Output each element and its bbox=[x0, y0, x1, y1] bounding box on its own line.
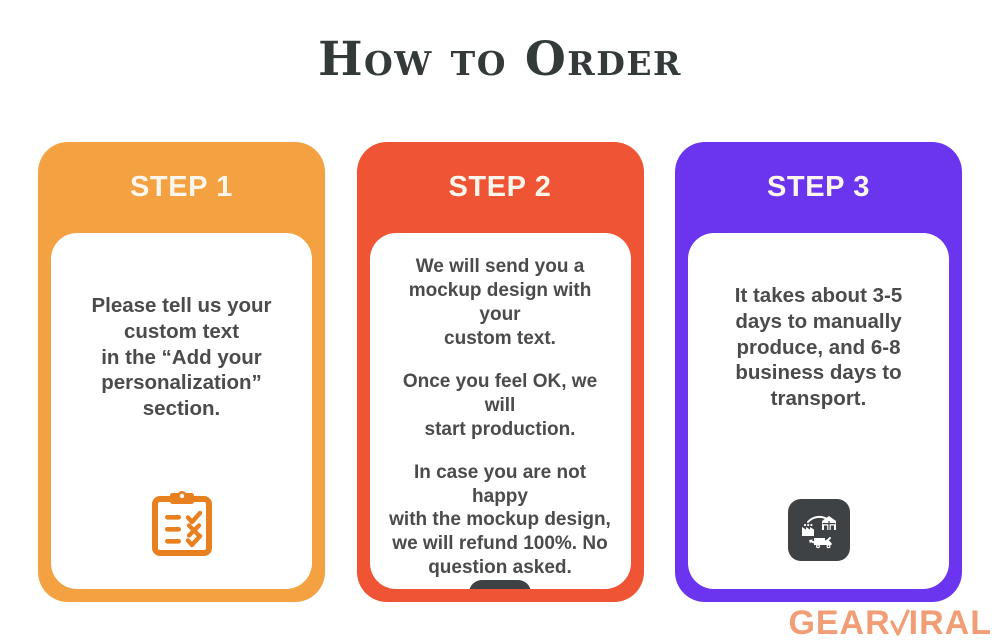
supply-chain-icon bbox=[788, 499, 850, 561]
watermark-check-icon bbox=[889, 608, 911, 638]
step-2-paragraph-1: We will send you a mockup design with yo… bbox=[386, 255, 615, 351]
step-card-1: STEP 1 Please tell us your custom text i… bbox=[38, 142, 325, 602]
step-card-3: STEP 3 It takes about 3-5 days to manual… bbox=[675, 142, 962, 602]
step-3-body: It takes about 3-5 days to manually prod… bbox=[688, 233, 949, 589]
step-2-paragraph-2: Once you feel OK, we will start producti… bbox=[386, 370, 615, 442]
watermark-text-before: GEAR bbox=[788, 606, 890, 640]
step-2-icon-slot: $ bbox=[469, 580, 531, 589]
folder-dollar-icon: $ bbox=[469, 580, 531, 589]
step-2-body: We will send you a mockup design with yo… bbox=[370, 233, 631, 589]
step-2-paragraph-3: In case you are not happy with the mocku… bbox=[386, 461, 615, 581]
step-1-paragraph-1: Please tell us your custom text in the “… bbox=[67, 293, 296, 422]
step-3-label: STEP 3 bbox=[675, 142, 962, 233]
page-title: How to Order bbox=[0, 34, 1000, 86]
step-2-label: STEP 2 bbox=[357, 142, 644, 233]
step-card-2: STEP 2 We will send you a mockup design … bbox=[357, 142, 644, 602]
step-1-label: STEP 1 bbox=[38, 142, 325, 233]
step-1-body: Please tell us your custom text in the “… bbox=[51, 233, 312, 589]
step-3-paragraph-1: It takes about 3-5 days to manually prod… bbox=[704, 283, 933, 412]
clipboard-checklist-icon bbox=[151, 490, 213, 561]
steps-container: STEP 1 Please tell us your custom text i… bbox=[38, 142, 962, 602]
watermark-text-after: IRAL bbox=[909, 606, 992, 640]
watermark-gearviral: GEAR IRAL bbox=[788, 606, 992, 640]
step-3-icon-slot bbox=[788, 499, 850, 561]
infographic-page: How to Order STEP 1 Please tell us your … bbox=[0, 0, 1000, 642]
step-1-icon-slot bbox=[151, 490, 213, 561]
